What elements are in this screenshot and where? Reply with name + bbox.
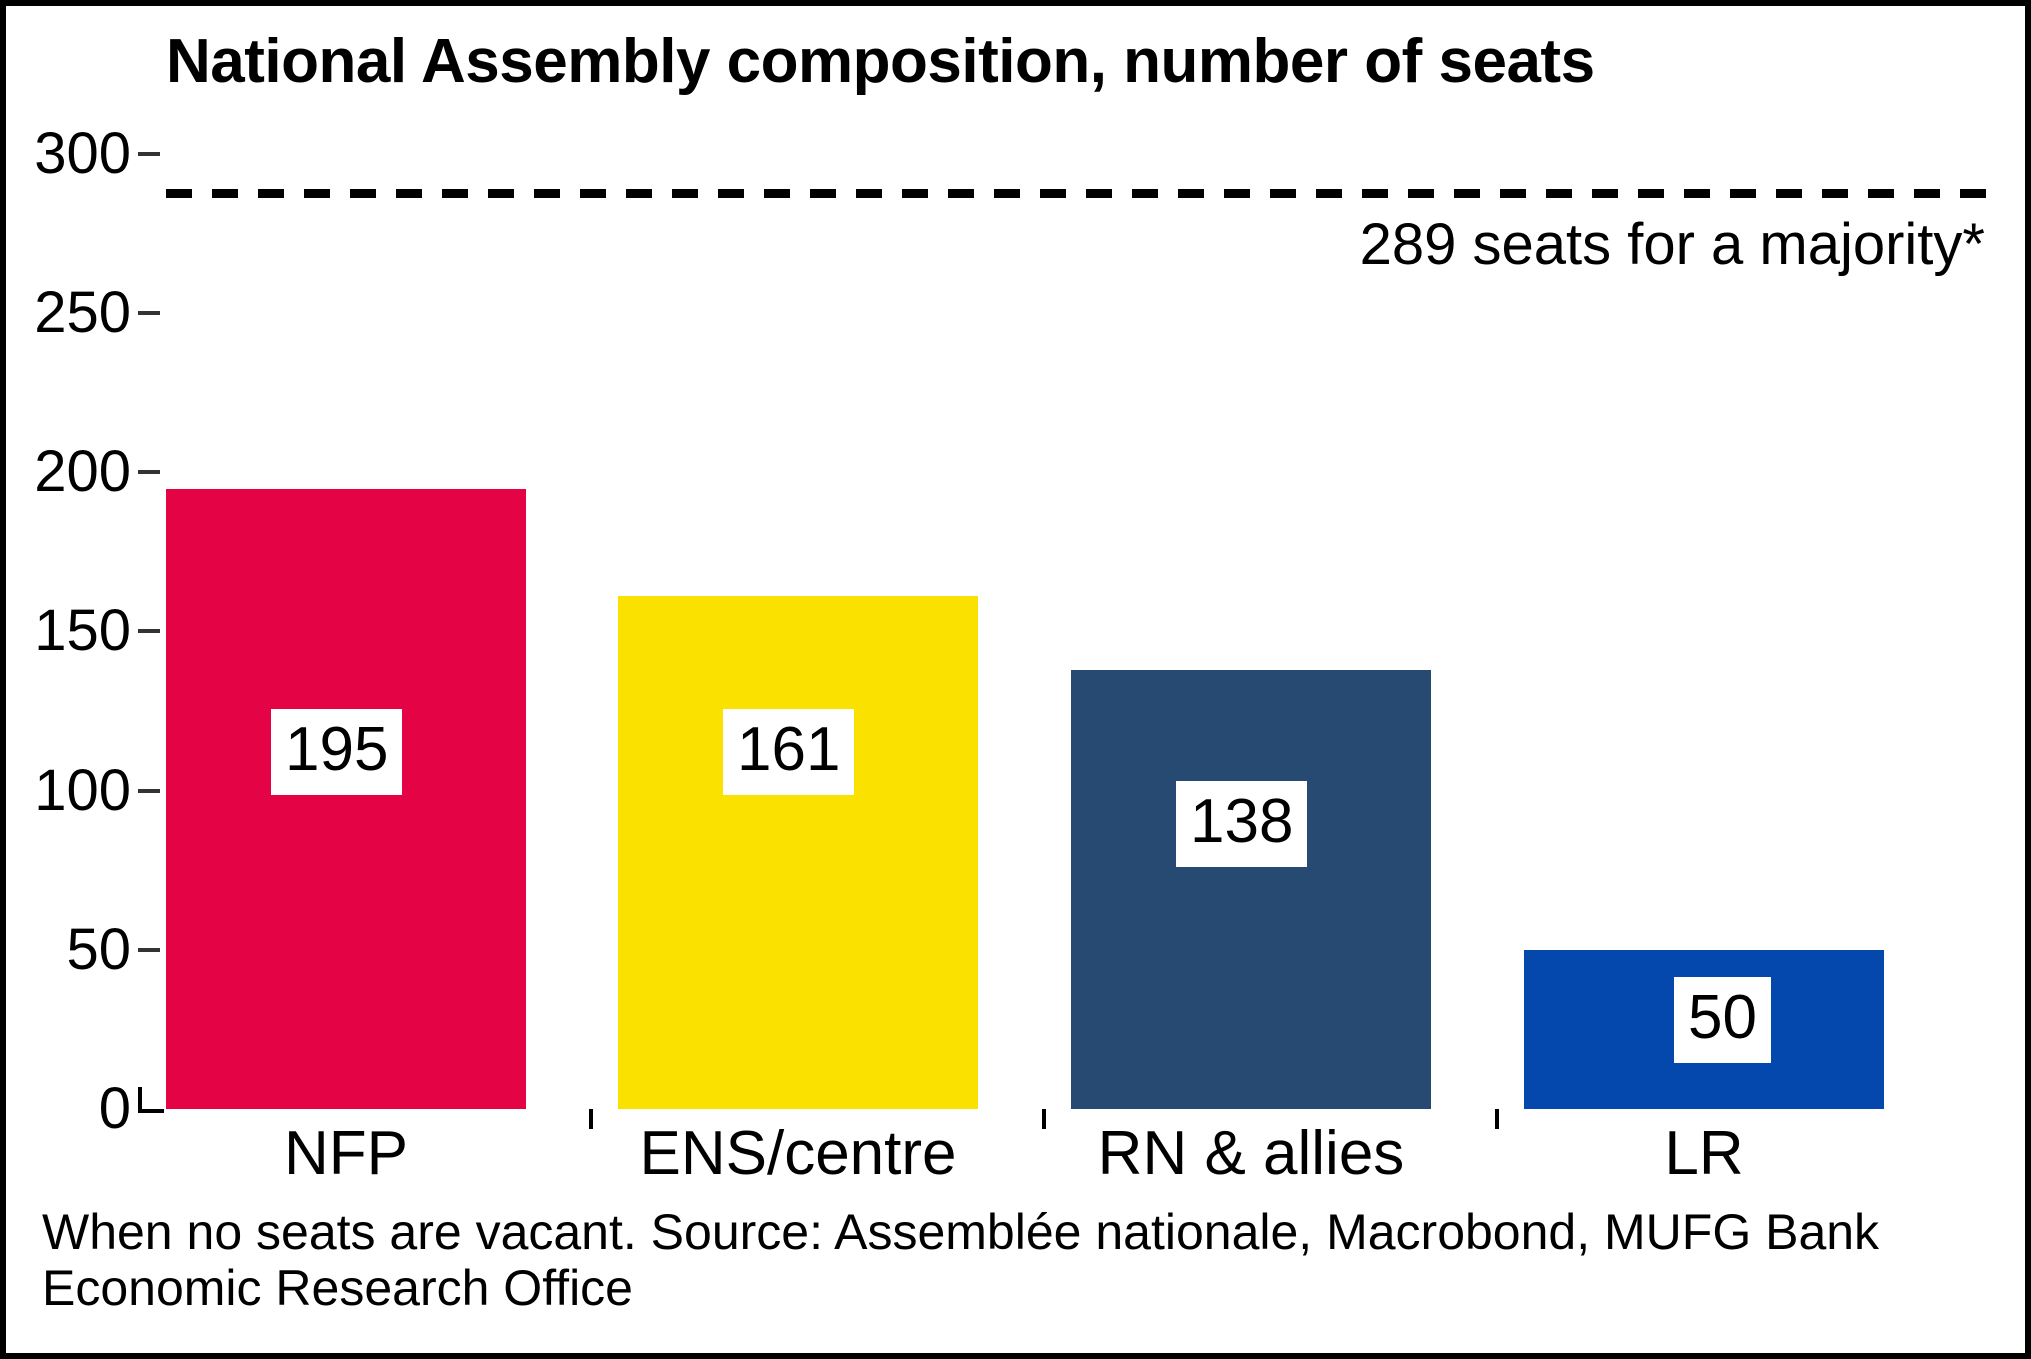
x-axis-label-nfp: NFP [166,1118,526,1189]
majority-threshold-line [166,189,2004,198]
y-tick-mark-200 [138,470,160,474]
y-tick-label-300: 300 [34,125,131,183]
bar-value-nfp: 195 [271,709,402,795]
axis-origin-corner [138,1087,164,1113]
x-axis-tick-2 [1042,1109,1046,1129]
bar-rn-allies[interactable]: 138 [1071,670,1431,1109]
y-tick-mark-100 [138,789,160,793]
x-axis-tick-1 [589,1109,593,1129]
y-tick-label-200: 200 [34,443,131,501]
bar-lr[interactable]: 50 [1524,950,1884,1109]
footnote: When no seats are vacant. Source: Assemb… [42,1204,1879,1316]
x-axis-label-lr: LR [1524,1118,1884,1189]
majority-threshold-label: 289 seats for a majority* [1360,211,1985,278]
chart-title: National Assembly composition, number of… [166,26,1595,97]
bar-value-ens-centre: 161 [723,709,854,795]
y-tick-label-150: 150 [34,602,131,660]
bar-value-rn-allies: 138 [1176,781,1307,867]
y-tick-mark-250 [138,311,160,315]
y-tick-mark-150 [138,629,160,633]
y-axis-ticks [138,154,168,1109]
y-tick-label-100: 100 [34,762,131,820]
bar-value-lr: 50 [1674,977,1771,1063]
bar-nfp[interactable]: 195 [166,489,526,1109]
y-tick-label-250: 250 [34,284,131,342]
chart-page: National Assembly composition, number of… [0,0,2031,1359]
y-axis-labels: 300 250 200 150 100 50 0 [6,154,131,1109]
x-axis-label-ens-centre: ENS/centre [618,1118,978,1189]
footnote-line-1: When no seats are vacant. Source: Assemb… [42,1204,1879,1260]
x-axis-label-rn-allies: RN & allies [1071,1118,1431,1189]
bar-ens-centre[interactable]: 161 [618,596,978,1109]
y-tick-mark-300 [138,152,160,156]
y-tick-label-0: 0 [99,1080,131,1138]
y-tick-mark-50 [138,948,160,952]
y-tick-label-50: 50 [66,921,131,979]
plot-area: 195 161 138 50 [166,154,2006,1109]
x-axis-tick-3 [1495,1109,1499,1129]
footnote-line-2: Economic Research Office [42,1260,1879,1316]
